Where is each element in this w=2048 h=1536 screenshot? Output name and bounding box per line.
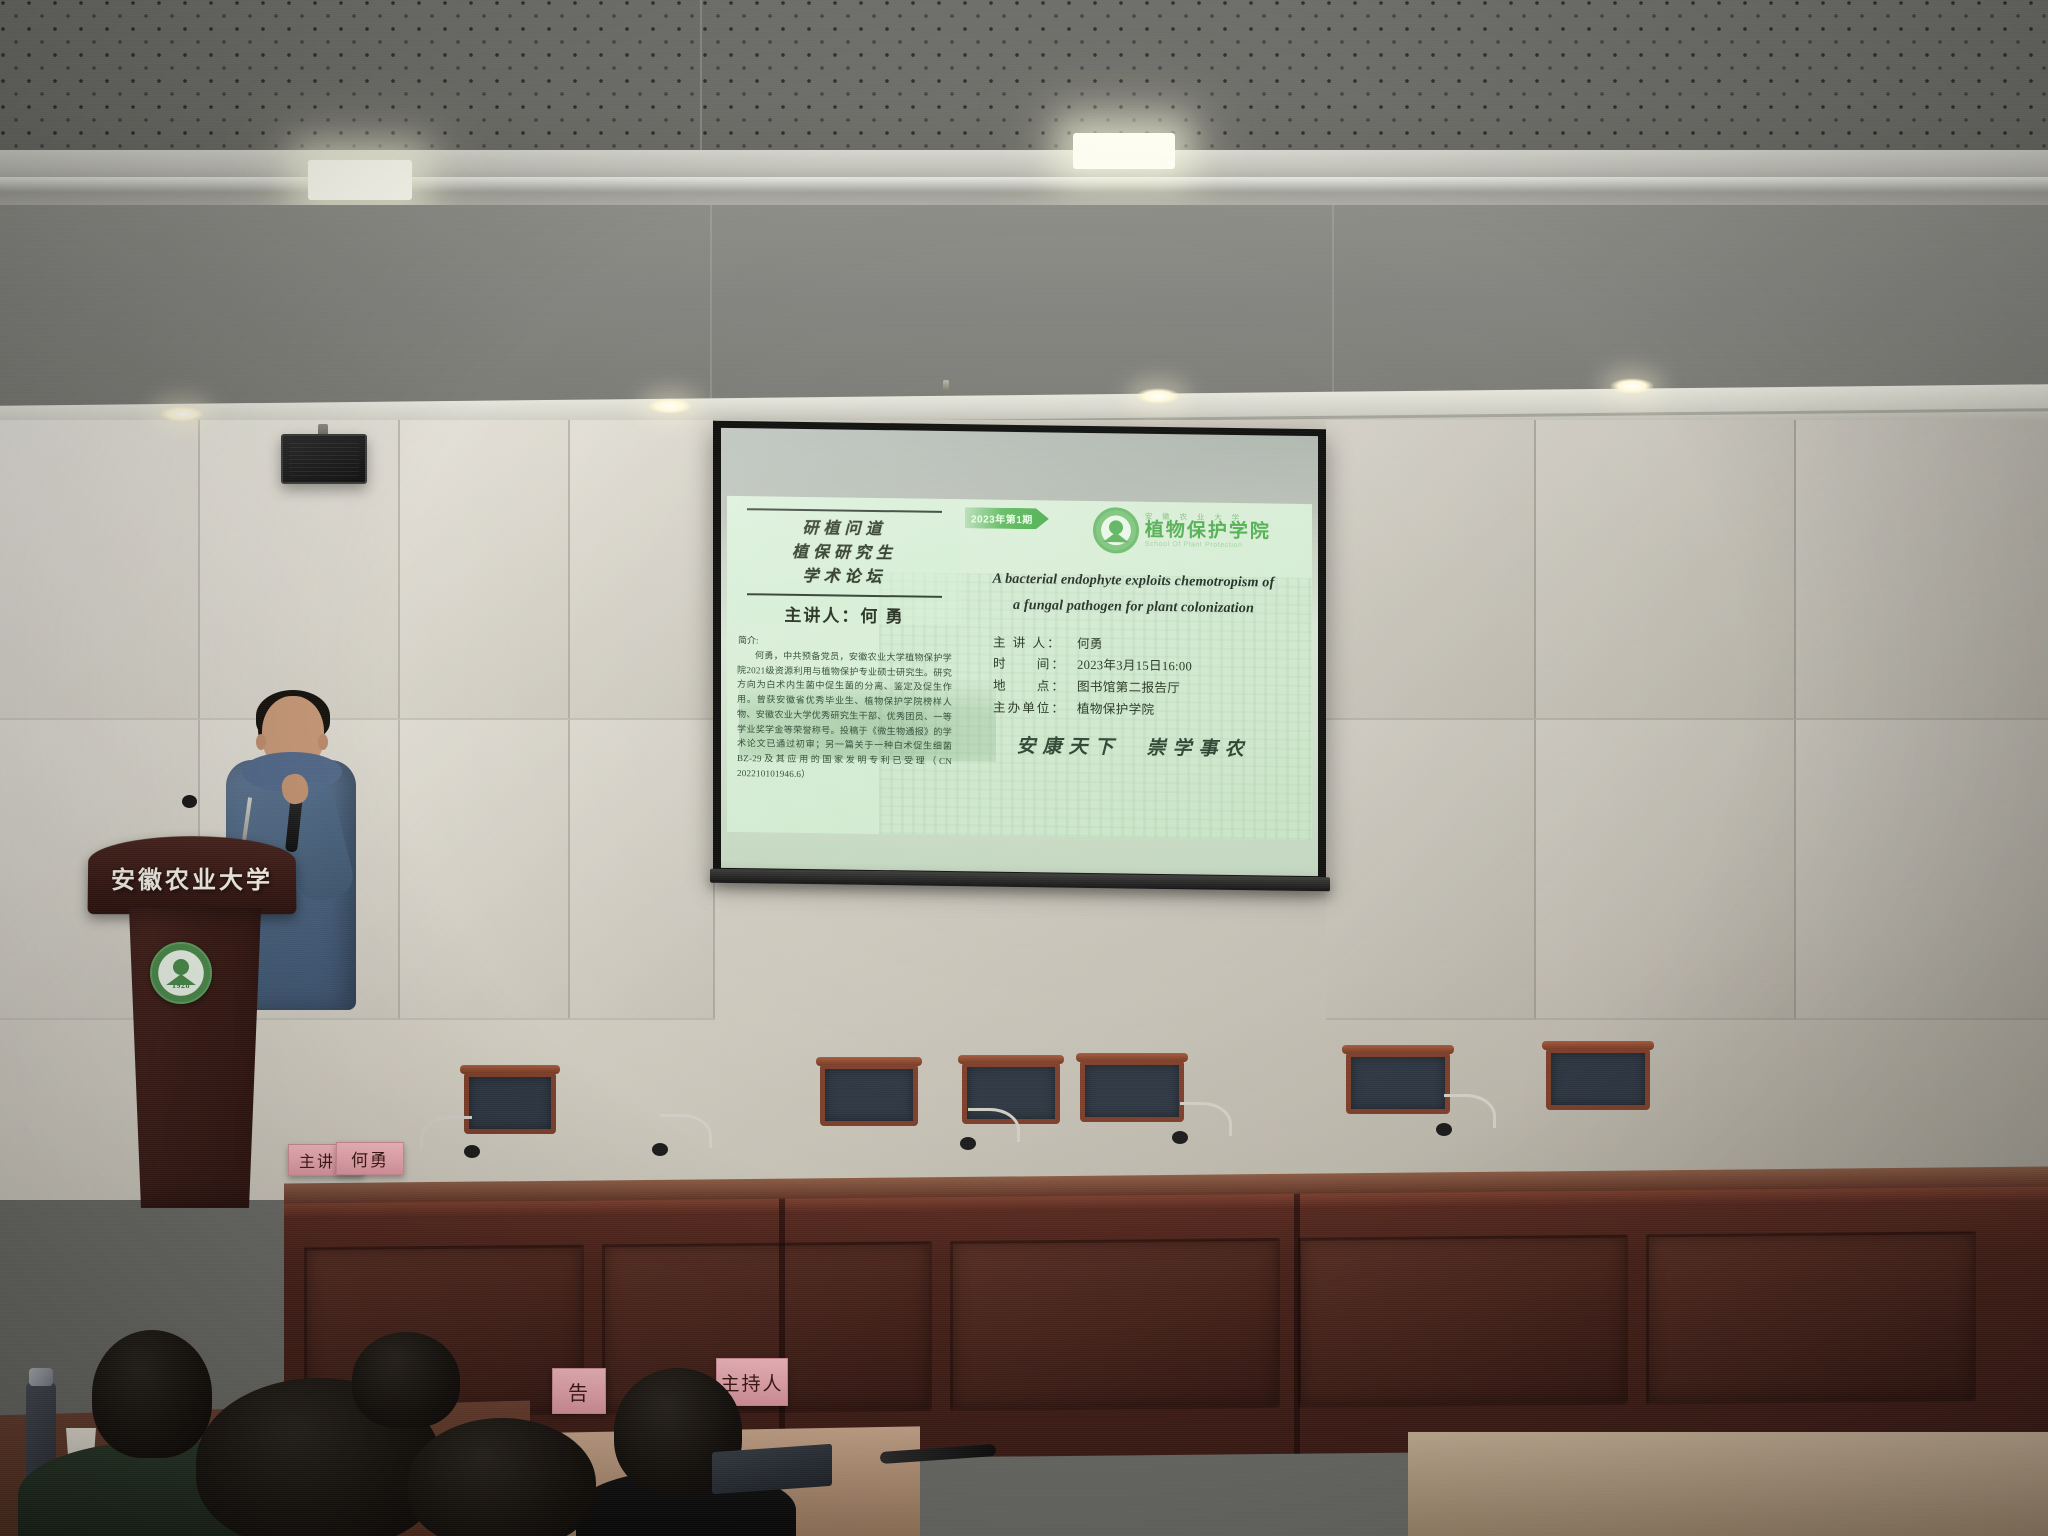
emblem-year: 1928 — [152, 981, 210, 990]
detail-value: 2023年3月15日16:00 — [1077, 655, 1192, 678]
stage-chair[interactable] — [820, 1064, 918, 1126]
speaker-grill — [289, 442, 359, 476]
presentation-slide: 研植问道 植保研究生 学术论坛 主讲人：何 勇 简介: 何勇，中共预备党员，安徽… — [727, 496, 1312, 840]
podium-venue-sign: 安徽农业大学 — [92, 860, 292, 895]
mic-head — [464, 1145, 480, 1158]
logo-college-english: School Of Plant Protection — [1145, 541, 1271, 550]
nameplate-front-partial: 告 — [552, 1368, 606, 1414]
audience-head — [408, 1418, 596, 1536]
projection-screen: 研植问道 植保研究生 学术论坛 主讲人：何 勇 简介: 何勇，中共预备党员，安徽… — [713, 421, 1326, 885]
detail-key: 主 讲 人： — [993, 632, 1077, 655]
slide-left-column: 研植问道 植保研究生 学术论坛 主讲人：何 勇 简介: 何勇，中共预备党员，安徽… — [727, 496, 961, 835]
stage-panel-gap — [1294, 1194, 1300, 1454]
bio-label: 简介: — [738, 633, 952, 649]
university-seal-icon — [1093, 507, 1139, 554]
event-details: 主 讲 人： 何勇 时 间： 2023年3月15日16:00 地 点： 图书馆第… — [993, 632, 1302, 723]
downlight — [1136, 388, 1180, 404]
paper-title: A bacterial endophyte exploits chemotrop… — [967, 565, 1300, 622]
mic-head — [960, 1137, 976, 1150]
nameplate-speaker-name: 何勇 — [336, 1142, 404, 1175]
notebook — [712, 1444, 832, 1494]
mic-head — [1172, 1131, 1188, 1144]
stage-panel-gap — [779, 1199, 785, 1459]
ceiling-light-fixture-right — [1073, 133, 1175, 169]
detail-key: 主办单位： — [993, 697, 1077, 720]
chair-back — [820, 1064, 918, 1126]
audience-head — [352, 1332, 460, 1428]
podium: 安徽农业大学 1928 — [92, 836, 292, 1206]
stage-panel — [950, 1238, 1280, 1411]
detail-key: 时 间： — [993, 654, 1077, 677]
chair-back — [1546, 1048, 1650, 1110]
detail-value: 何勇 — [1077, 633, 1103, 655]
slide-slogan: 安康天下 崇学事农 — [965, 730, 1302, 762]
university-emblem-icon: 1928 — [150, 942, 212, 1004]
upper-wall-seam-1 — [710, 205, 712, 420]
mic-head — [1436, 1123, 1452, 1136]
detail-value: 图书馆第二报告厅 — [1077, 677, 1180, 700]
screen-surface: 研植问道 植保研究生 学术论坛 主讲人：何 勇 简介: 何勇，中共预备党员，安徽… — [721, 428, 1318, 876]
chair-back — [1080, 1060, 1184, 1122]
detail-key: 地 点： — [993, 675, 1077, 698]
forum-title-block: 研植问道 植保研究生 学术论坛 主讲人：何 勇 — [737, 506, 952, 631]
forum-rule-top — [747, 508, 942, 513]
forum-line-1: 研植问道 — [737, 516, 952, 543]
detail-value: 植物保护学院 — [1077, 698, 1154, 721]
downlight — [648, 398, 692, 414]
stage-chair[interactable] — [1080, 1060, 1184, 1122]
detail-row: 主办单位： 植物保护学院 — [993, 697, 1302, 723]
bio-text: 何勇，中共预备党员，安徽农业大学植物保护学院2021级资源利用与植物保护专业硕士… — [737, 648, 952, 783]
logo-text-block: 安 徽 农 业 大 学 植物保护学院 School Of Plant Prote… — [1145, 513, 1271, 550]
forum-line-3: 学术论坛 — [737, 564, 952, 591]
wall-speaker — [281, 434, 367, 484]
slide-right-column: 2023年第1期 安 徽 农 业 大 学 植物保护学院 School Of Pl… — [961, 499, 1312, 840]
slide-header-row: 2023年第1期 安 徽 农 业 大 学 植物保护学院 School Of Pl… — [965, 507, 1302, 556]
downlight — [160, 406, 204, 422]
ceiling-light-fixture-left — [308, 160, 412, 200]
stage-panel — [1298, 1235, 1628, 1408]
paper-title-line-2: a fungal pathogen for plant colonization — [967, 592, 1300, 623]
upper-wall-seam-2 — [1332, 205, 1334, 420]
presenter-ear-right — [318, 734, 328, 750]
lecture-hall-photo: 研植问道 植保研究生 学术论坛 主讲人：何 勇 简介: 何勇，中共预备党员，安徽… — [0, 0, 2048, 1536]
stage-panel — [1646, 1231, 1976, 1404]
audience-desk-right — [1408, 1432, 2048, 1536]
mic-head — [652, 1143, 668, 1156]
sprinkler-head — [941, 380, 951, 396]
stage-chair[interactable] — [1546, 1048, 1650, 1110]
issue-badge: 2023年第1期 — [965, 507, 1049, 529]
chair-back — [1346, 1052, 1450, 1114]
stage-chair[interactable] — [464, 1072, 556, 1134]
audience-head — [92, 1330, 212, 1458]
forum-rule-bottom — [747, 593, 942, 598]
bottle-cap — [29, 1368, 53, 1386]
forum-line-2: 植保研究生 — [737, 540, 952, 567]
downlight — [1610, 378, 1654, 394]
podium-mic-head — [182, 795, 197, 808]
stage-chair[interactable] — [1346, 1052, 1450, 1114]
presenter-ear-left — [256, 734, 266, 750]
logo-college-name: 植物保护学院 — [1145, 521, 1271, 543]
forum-speaker-line: 主讲人：何 勇 — [737, 599, 952, 631]
stage-front-panelling — [284, 1187, 2048, 1464]
college-logo: 安 徽 农 业 大 学 植物保护学院 School Of Plant Prote… — [1093, 507, 1271, 555]
chair-back — [464, 1072, 556, 1134]
